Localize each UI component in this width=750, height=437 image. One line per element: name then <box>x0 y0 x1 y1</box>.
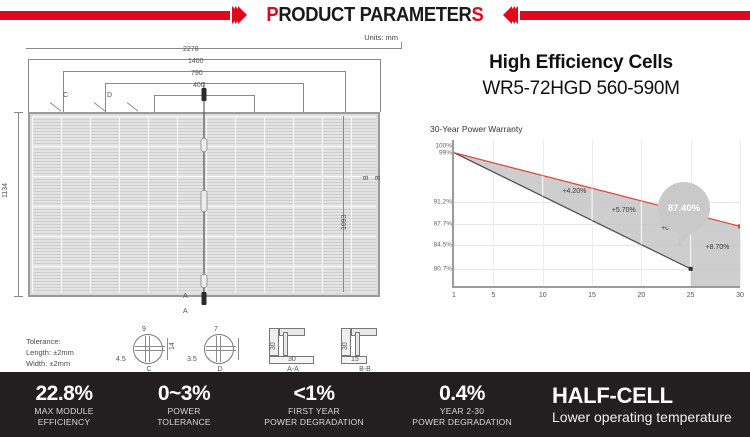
header-bar-left <box>0 11 230 20</box>
section-marker-a2: A <box>183 308 188 315</box>
stat-power-tolerance: 0~3% POWER TOLERANCE <box>128 382 240 428</box>
page-title-prefix: P <box>267 4 279 26</box>
product-model: WR5-72HGD 560-590M <box>412 78 750 100</box>
detail-c-dim-top: 9 <box>142 326 146 333</box>
dim-2278: 2278 <box>183 46 199 53</box>
callout-label-d: D <box>107 92 112 99</box>
units-label: Units: mm <box>364 33 398 42</box>
chart-annotation: +5.70% <box>612 207 636 214</box>
callout-value: 87.40% <box>668 203 700 214</box>
stat-value: 0~3% <box>134 382 234 406</box>
stat-label-line1: YEAR 2-30 <box>394 406 530 417</box>
junction-box-upper <box>201 138 208 152</box>
feature-title: HALF-CELL <box>552 383 744 408</box>
chart-annotation: +4.20% <box>562 188 586 195</box>
tolerance-length: Length: ±2mm <box>26 347 74 358</box>
stat-value: 0.4% <box>394 382 530 406</box>
stat-label-line1: FIRST YEAR <box>246 406 382 417</box>
section-marker-b2: B <box>375 175 382 180</box>
chart-gridline-vertical <box>740 140 741 286</box>
detail-c-dim-left: 4.5 <box>116 356 126 363</box>
detail-d-dim-top: 7 <box>214 326 218 333</box>
detail-d-dim-left: 3.5 <box>187 356 197 363</box>
section-bb-dim-height: 30 <box>342 342 349 350</box>
header-chevrons-left-icon <box>501 6 520 24</box>
header-chevrons-right-icon <box>230 6 249 24</box>
dim-1134: 1134 <box>2 183 9 198</box>
section-aa-dim-width: 30 <box>288 356 296 363</box>
junction-box-center <box>201 190 208 212</box>
connector-bottom-icon <box>202 292 207 305</box>
section-marker-b1: B <box>363 175 370 180</box>
dim-1400: 1400 <box>188 58 204 65</box>
tolerance-title: Tolerance: <box>26 336 74 347</box>
feature-subtitle: Lower operating temperature <box>552 408 744 426</box>
callout-bubble: 87.40% <box>658 182 710 234</box>
chart-title: 30-Year Power Warranty <box>430 124 522 134</box>
section-marker-a1: A <box>183 293 188 300</box>
stat-max-efficiency: 22.8% MAX MODULE EFFICIENCY <box>0 382 128 428</box>
product-title: High Efficiency Cells <box>412 52 750 74</box>
dim-1093: 1093 <box>341 214 348 230</box>
page-title-suffix: S <box>472 4 484 26</box>
page-title: PRODUCT PARAMETERS <box>259 4 491 27</box>
stat-half-cell-feature: HALF-CELL Lower operating temperature <box>536 383 750 426</box>
callout-label-c: C <box>63 92 68 99</box>
stat-label-line2: POWER DEGRADATION <box>246 417 382 428</box>
section-aa-dim-height: 30 <box>270 342 277 350</box>
stat-label-line1: MAX MODULE <box>6 406 122 417</box>
stat-value: <1% <box>246 382 382 406</box>
stat-value: 22.8% <box>6 382 122 406</box>
power-warranty-chart: 100%99%91.2%87.7%84.5%80.7% 151015202530… <box>422 138 740 328</box>
stat-label-line1: POWER <box>134 406 234 417</box>
detail-c-dim-right: 14 <box>169 342 176 350</box>
stat-label-line2: EFFICIENCY <box>6 417 122 428</box>
stat-year2-30-degradation: 0.4% YEAR 2-30 POWER DEGRADATION <box>388 382 536 428</box>
page-title-middle: RODUCT PARAMETER <box>278 4 471 26</box>
right-panel: High Efficiency Cells WR5-72HGD 560-590M… <box>412 30 750 370</box>
stat-first-year-degradation: <1% FIRST YEAR POWER DEGRADATION <box>240 382 388 428</box>
stats-bar: 22.8% MAX MODULE EFFICIENCY 0~3% POWER T… <box>0 372 750 437</box>
technical-drawing: Units: mm 2278 1400 790 400 C D 1134 109… <box>0 30 410 370</box>
stat-label-line2: POWER DEGRADATION <box>394 417 530 428</box>
stat-label-line2: TOLERANCE <box>134 417 234 428</box>
section-bb-dim-width: 15 <box>351 356 359 363</box>
tolerance-width: Width: ±2mm <box>26 358 74 369</box>
tolerance-note: Tolerance: Length: ±2mm Width: ±2mm <box>26 336 74 369</box>
connector-top-icon <box>202 88 207 101</box>
header-bar-right <box>520 11 750 20</box>
chart-annotation: +8.70% <box>705 244 729 251</box>
junction-box-lower <box>201 274 208 288</box>
page-header: PRODUCT PARAMETERS <box>0 0 750 30</box>
dim-790: 790 <box>191 70 203 77</box>
